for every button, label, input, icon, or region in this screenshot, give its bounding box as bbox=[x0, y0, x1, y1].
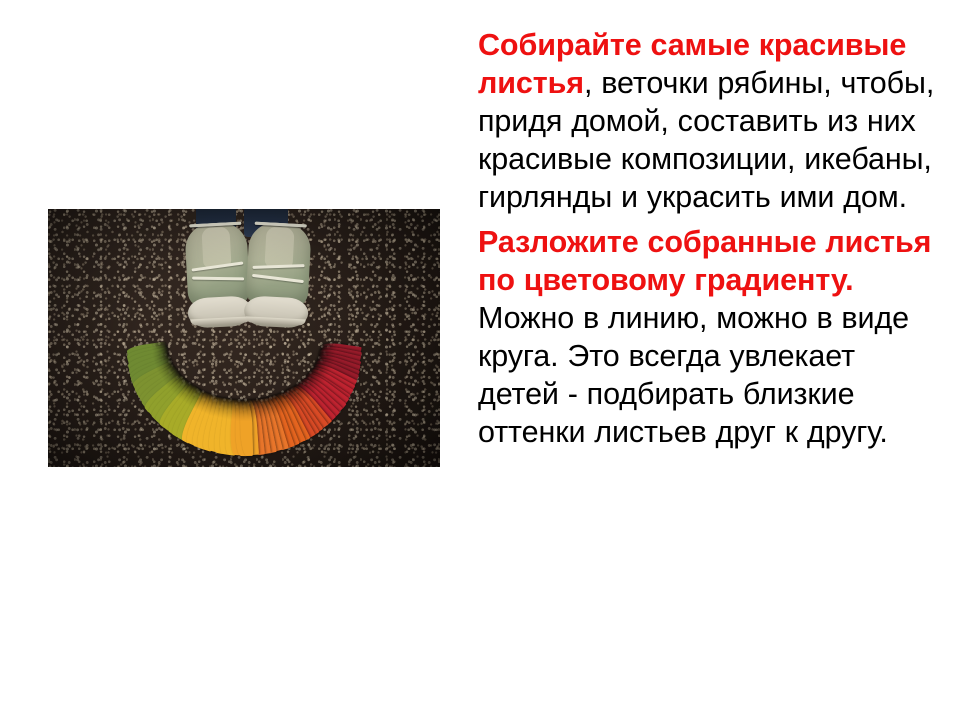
slide-text-block: Собирайте самые красивые листья, веточки… bbox=[478, 26, 940, 451]
paragraph-2-run-1: Можно в линию, можно в виде круга. Это в… bbox=[478, 301, 909, 449]
sneaker-tongue bbox=[201, 226, 231, 267]
leaf-gradient-photo bbox=[48, 209, 440, 467]
paragraph-2-run-0-accent: Разложите собранные листья по цветовому … bbox=[478, 225, 931, 297]
sneaker-tongue bbox=[265, 226, 295, 267]
slide-root: Собирайте самые красивые листья, веточки… bbox=[0, 0, 960, 720]
photo-asphalt-background bbox=[48, 209, 440, 467]
sneaker-right bbox=[244, 221, 312, 332]
paragraph-2: Разложите собранные листья по цветовому … bbox=[478, 223, 940, 451]
paragraph-1: Собирайте самые красивые листья, веточки… bbox=[478, 26, 940, 216]
sneaker-left bbox=[184, 221, 252, 332]
